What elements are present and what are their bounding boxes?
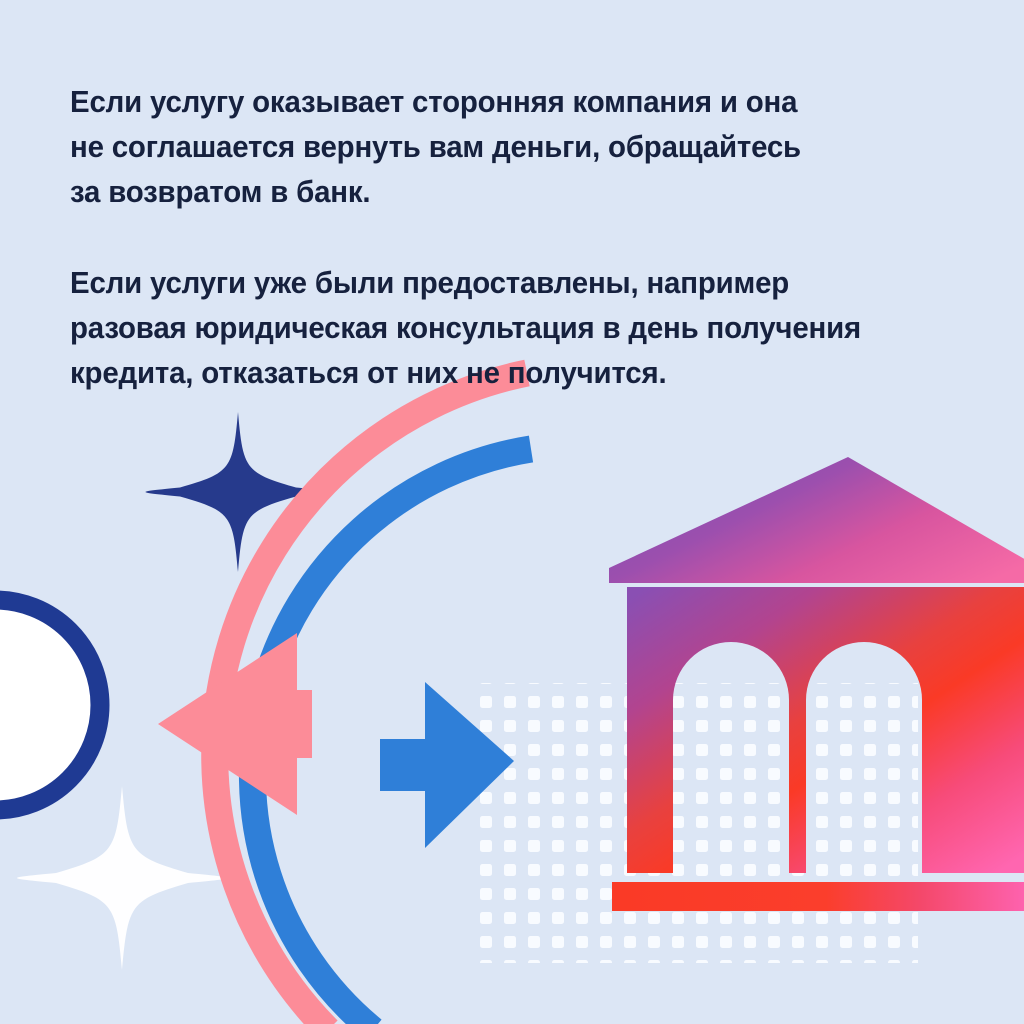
illustration-canvas: Если услугу оказывает сторонняя компания… bbox=[0, 0, 1024, 1024]
dot-grid-pattern bbox=[478, 683, 918, 963]
paragraph-1: Если услугу оказывает сторонняя компания… bbox=[70, 80, 919, 215]
text-block: Если услугу оказывает сторонняя компания… bbox=[70, 80, 950, 396]
paragraph-2: Если услуги уже были предоставлены, напр… bbox=[70, 261, 919, 396]
bank-base bbox=[612, 882, 1024, 911]
